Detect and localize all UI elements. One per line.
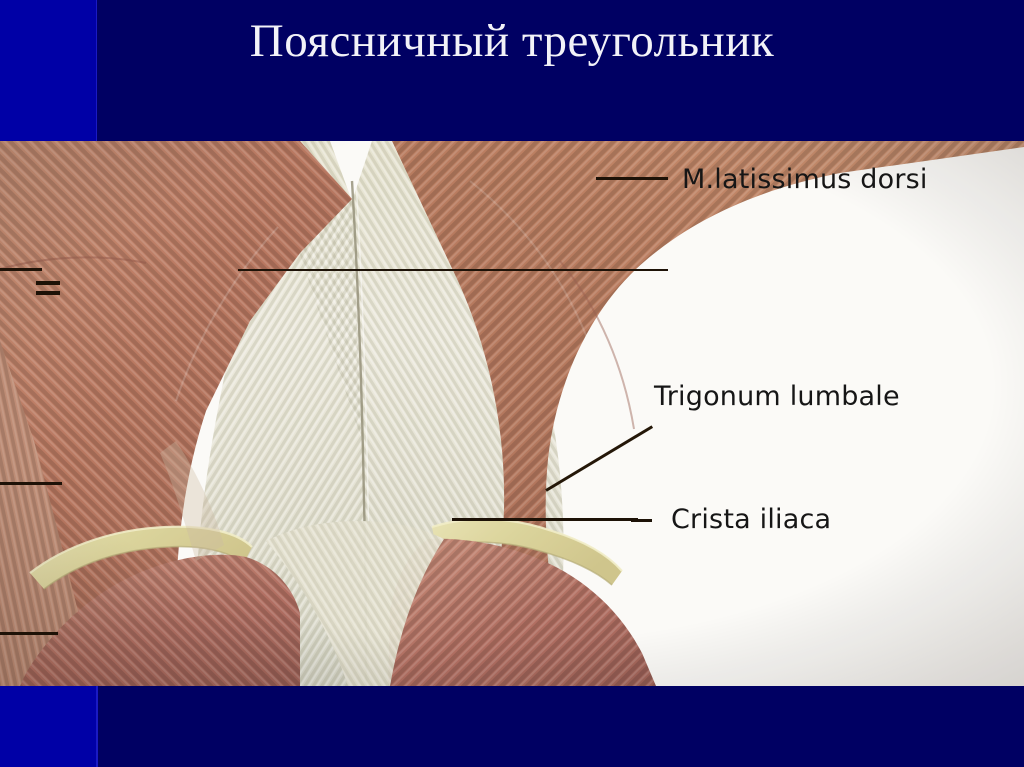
anatomy-illustration [0,141,1024,686]
label-latissimus-dorsi: M.latissimus dorsi [682,165,928,195]
label-crista-iliaca: Crista iliaca [671,505,831,535]
anatomy-photograph [0,141,1024,686]
leader-mark-left-a [36,281,60,285]
page-title: Поясничный треугольник [0,12,1024,70]
presentation-slide: Поясничный треугольник [0,0,1024,767]
leader-line-left-middle [0,482,62,485]
leader-line-latissimus [596,177,668,180]
leader-mark-left-b [36,291,60,295]
leader-line-left-lower [0,632,58,635]
leader-line-latissimus-inner [238,269,668,271]
label-trigonum-lumbale: Trigonum lumbale [654,382,900,412]
leader-line-left-upper [0,268,42,271]
leader-line-crista-inner [452,518,638,521]
